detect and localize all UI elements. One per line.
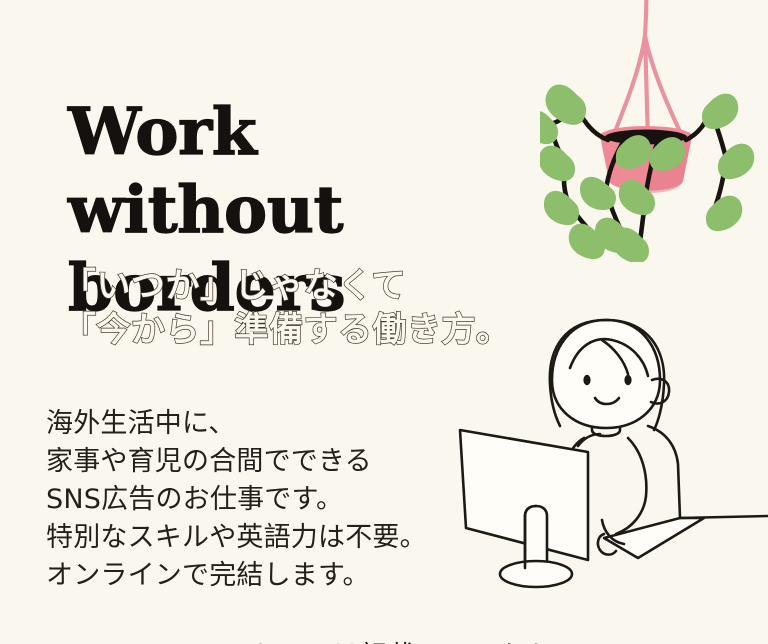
person-head — [552, 320, 660, 428]
woman-at-computer-icon — [452, 306, 768, 606]
person-eye-right — [624, 375, 631, 385]
entry-instruction: エントリーは記載のURLから — [195, 634, 554, 644]
plant-hanger-cords — [614, 0, 682, 140]
hanging-plant-icon — [540, 0, 768, 262]
monitor-stand-base — [500, 561, 572, 587]
poster-canvas: Work without borders 「いつか」じゃなくて 「今から」準備す… — [0, 0, 768, 644]
desk-surface — [604, 518, 704, 558]
person-eye-left — [583, 375, 590, 385]
body-copy: 海外生活中に、 家事や育児の合間でできる SNS広告のお仕事です。 特別なスキル… — [46, 405, 466, 595]
